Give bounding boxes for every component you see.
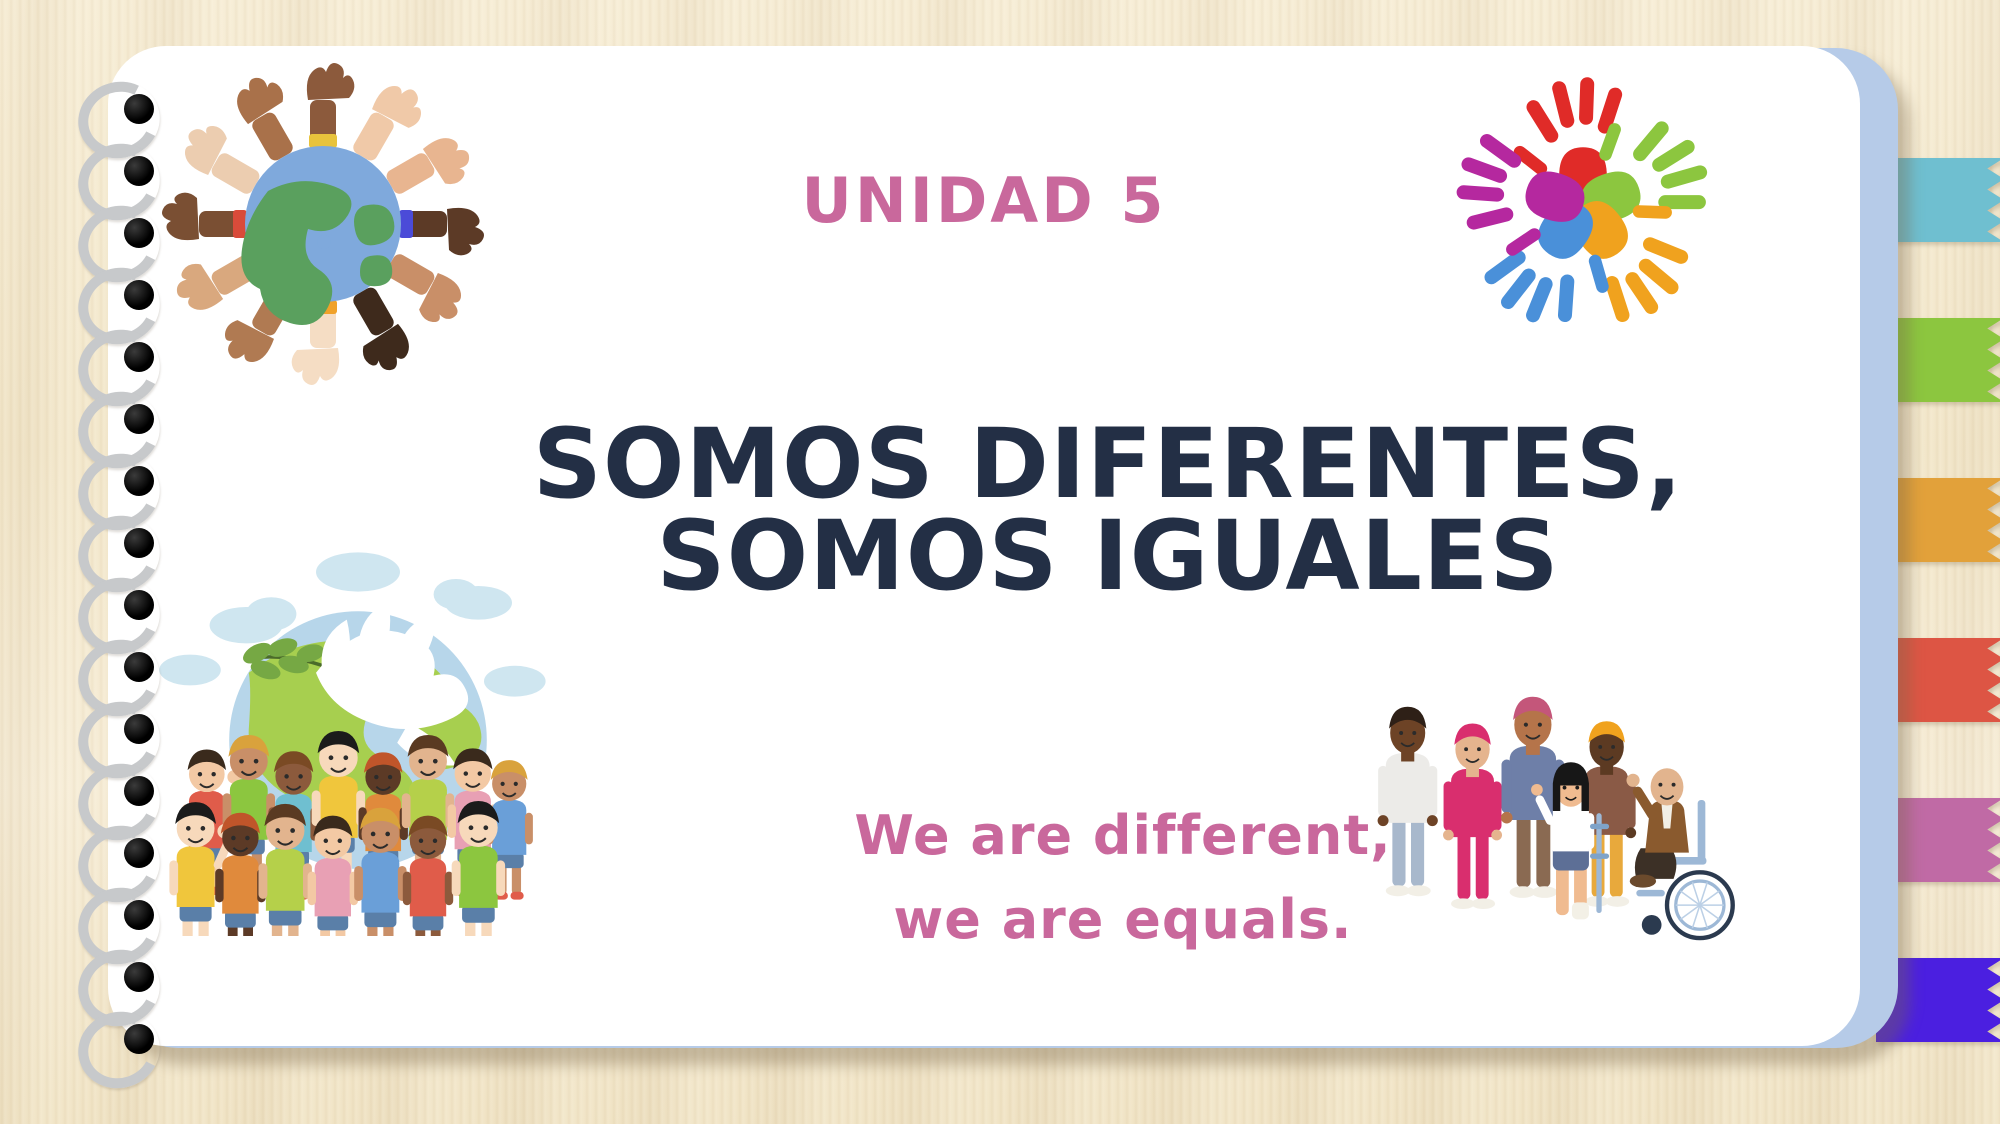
- spiral-ring: [78, 950, 156, 1006]
- spiral-ring: [78, 144, 156, 200]
- spiral-ring: [78, 1012, 156, 1068]
- spiral-ring: [78, 268, 156, 324]
- ring-hole: [124, 218, 154, 248]
- ring-hole: [124, 962, 154, 992]
- ring-hole: [124, 280, 154, 310]
- ring-hole: [124, 342, 154, 372]
- ring-hole: [124, 156, 154, 186]
- spiral-ring: [78, 578, 156, 634]
- unit-label: UNIDAD 5: [108, 164, 1860, 237]
- spiral-ring: [78, 330, 156, 386]
- ring-hole: [124, 94, 154, 124]
- subtitle-line-2: we are equals.: [588, 878, 1658, 962]
- ring-hole: [124, 776, 154, 806]
- child-figure: [403, 816, 453, 936]
- ring-hole: [124, 528, 154, 558]
- subtitle-line-1: We are different,: [854, 804, 1391, 867]
- child-figure: [308, 816, 358, 936]
- tab-zigzag-edge: [1960, 638, 2000, 722]
- ring-hole: [124, 404, 154, 434]
- hand-0: [307, 63, 354, 148]
- spiral-ring: [78, 454, 156, 510]
- tab-zigzag-edge: [1960, 798, 2000, 882]
- ring-hole: [124, 714, 154, 744]
- subtitle: We are different, we are equals.: [588, 794, 1658, 961]
- spiral-ring: [78, 702, 156, 758]
- tab-zigzag-edge: [1960, 318, 2000, 402]
- child-figure: [354, 808, 406, 936]
- spiral-ring: [78, 888, 156, 944]
- tab-zigzag-edge: [1960, 478, 2000, 562]
- ring-hole: [124, 652, 154, 682]
- spiral-ring: [78, 516, 156, 572]
- headline-line-2: SOMOS IGUALES: [408, 510, 1808, 602]
- ring-hole: [124, 466, 154, 496]
- page-title: SOMOS DIFERENTES, SOMOS IGUALES: [408, 418, 1808, 602]
- slide-card: UNIDAD 5 SOMOS DIFERENTES, SOMOS IGUALES…: [108, 46, 1860, 1046]
- tab-zigzag-edge: [1960, 958, 2000, 1042]
- spiral-ring: [78, 82, 156, 138]
- spiral-ring: [78, 392, 156, 448]
- ring-hole: [124, 838, 154, 868]
- ring-hole: [124, 1024, 154, 1054]
- child-figure: [215, 813, 265, 936]
- child-figure: [258, 804, 311, 936]
- spiral-ring: [78, 826, 156, 882]
- ring-hole: [124, 900, 154, 930]
- spiral-ring: [78, 764, 156, 820]
- ring-hole: [124, 590, 154, 620]
- spiral-ring: [78, 206, 156, 262]
- tab-zigzag-edge: [1960, 158, 2000, 242]
- child-figure: [452, 801, 505, 936]
- spiral-ring: [78, 640, 156, 696]
